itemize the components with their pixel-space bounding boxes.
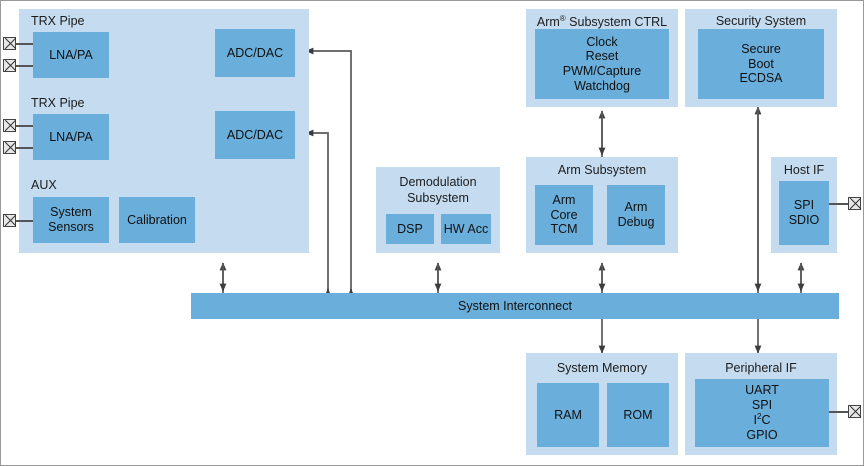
pad-aux-sensor: [3, 214, 16, 227]
system-interconnect-label: System Interconnect: [458, 299, 572, 313]
group-title-security-system: Security System: [685, 14, 837, 28]
lead-trx2-rf-a: [16, 125, 33, 127]
group-title-peripheral-if: Peripheral IF: [685, 361, 837, 375]
system-sensors-line-1: System: [50, 205, 92, 220]
pad-trx1-rf-a: [3, 37, 16, 50]
group-title-host-if: Host IF: [771, 163, 837, 177]
system-interconnect-bar: System Interconnect: [191, 293, 839, 319]
pad-host-if: [848, 197, 861, 210]
group-title-aux: AUX: [19, 178, 309, 192]
arm-debug-line-1: Arm: [625, 200, 648, 215]
peripheral-item-spi: SPI: [752, 398, 772, 413]
arm-core-line-1: Arm: [553, 193, 576, 208]
group-title-demodulation-line-1: Demodulation: [376, 175, 500, 189]
block-dsp: DSP: [386, 214, 434, 244]
group-title-trx-pipe-1: TRX Pipe: [19, 14, 309, 28]
block-arm-ctrl-functions: Clock Reset PWM/Capture Watchdog: [535, 29, 669, 99]
arm-ctrl-item-clock: Clock: [586, 35, 617, 50]
block-host-if-interfaces: SPI SDIO: [779, 181, 829, 245]
block-security-functions: Secure Boot ECDSA: [698, 29, 824, 99]
block-hw-acc: HW Acc: [441, 214, 491, 244]
arm-ctrl-item-watchdog: Watchdog: [574, 79, 630, 94]
lead-trx2-rf-b: [16, 147, 33, 149]
block-system-sensors: System Sensors: [33, 197, 109, 243]
peripheral-item-uart: UART: [745, 383, 779, 398]
group-title-demodulation-line-2: Subsystem: [376, 191, 500, 205]
lead-trx1-rf-b: [16, 65, 33, 67]
group-title-arm-subsystem: Arm Subsystem: [526, 163, 678, 177]
block-ram: RAM: [537, 383, 599, 447]
arm-ctrl-title-post: Subsystem CTRL: [566, 15, 667, 29]
i2c-suffix: C: [761, 414, 770, 428]
arm-debug-line-2: Debug: [618, 215, 655, 230]
arm-core-line-2: Core: [550, 208, 577, 223]
peripheral-item-gpio: GPIO: [746, 428, 777, 443]
lead-host-if: [829, 203, 850, 205]
block-calibration: Calibration: [119, 197, 195, 243]
arm-ctrl-item-pwm-capture: PWM/Capture: [563, 64, 642, 79]
arm-core-line-3: TCM: [550, 222, 577, 237]
block-lna-pa-1: LNA/PA: [33, 32, 109, 78]
lead-peripheral-if: [829, 411, 850, 413]
security-item-ecdsa: ECDSA: [739, 71, 782, 86]
group-title-system-memory: System Memory: [526, 361, 678, 375]
security-item-boot: Boot: [748, 57, 774, 72]
arm-ctrl-title-pre: Arm: [537, 15, 560, 29]
lead-aux-sensor: [16, 220, 33, 222]
pad-peripheral-if: [848, 405, 861, 418]
pad-trx1-rf-b: [3, 59, 16, 72]
block-lna-pa-2: LNA/PA: [33, 114, 109, 160]
peripheral-item-i2c: I2C: [754, 412, 771, 428]
block-rom: ROM: [607, 383, 669, 447]
host-if-item-spi: SPI: [794, 198, 814, 213]
lead-trx1-rf-a: [16, 43, 33, 45]
arm-ctrl-item-reset: Reset: [586, 49, 619, 64]
system-sensors-line-2: Sensors: [48, 220, 94, 235]
block-arm-debug: Arm Debug: [607, 185, 665, 245]
group-title-arm-subsystem-ctrl: Arm® Subsystem CTRL: [526, 14, 678, 29]
security-item-secure: Secure: [741, 42, 781, 57]
block-adc-dac-1: ADC/DAC: [215, 29, 295, 77]
block-adc-dac-2: ADC/DAC: [215, 111, 295, 159]
soc-block-diagram: TRX Pipe LNA/PA ADC/DAC TRX Pipe LNA/PA …: [0, 0, 864, 466]
block-peripheral-interfaces: UART SPI I2C GPIO: [695, 379, 829, 447]
pad-trx2-rf-b: [3, 141, 16, 154]
pad-trx2-rf-a: [3, 119, 16, 132]
block-arm-core-tcm: Arm Core TCM: [535, 185, 593, 245]
group-title-trx-pipe-2: TRX Pipe: [19, 96, 309, 110]
host-if-item-sdio: SDIO: [789, 213, 820, 228]
